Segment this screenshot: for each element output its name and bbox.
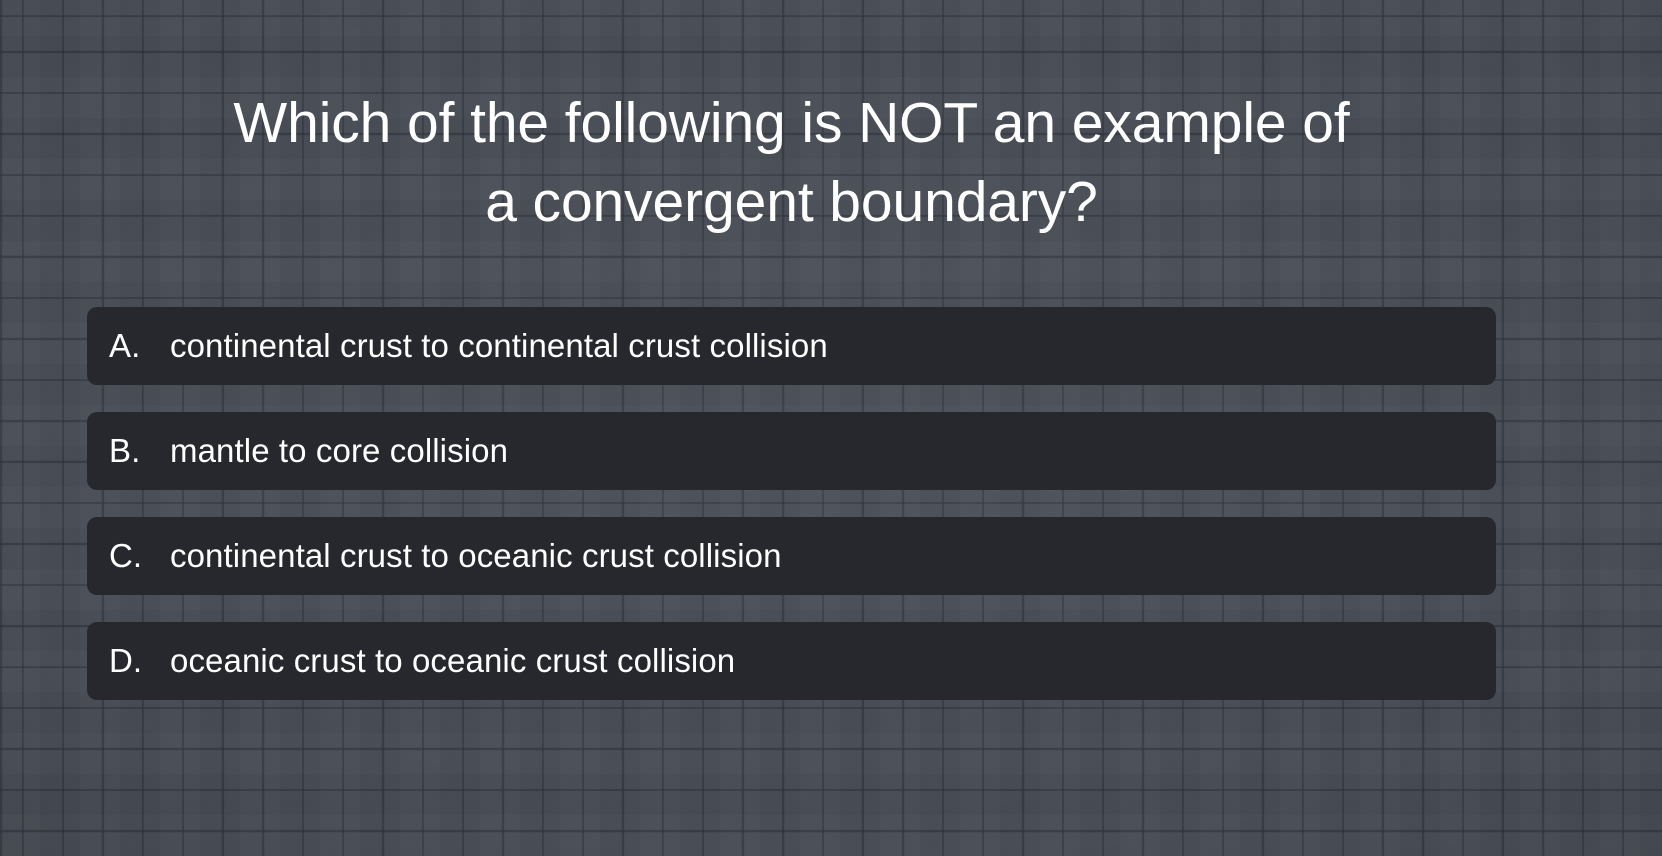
- answer-option-b[interactable]: B. mantle to core collision: [87, 412, 1496, 490]
- answer-option-b-letter: B.: [109, 432, 155, 470]
- answer-option-c[interactable]: C. continental crust to oceanic crust co…: [87, 517, 1496, 595]
- slide-content: Which of the following is NOT an example…: [0, 0, 1662, 856]
- answer-option-c-letter: C.: [109, 537, 155, 575]
- answer-options-list: A. continental crust to continental crus…: [87, 307, 1496, 700]
- answer-option-d-text: oceanic crust to oceanic crust collision: [155, 642, 1496, 680]
- answer-option-b-text: mantle to core collision: [155, 432, 1496, 470]
- answer-option-d-letter: D.: [109, 642, 155, 680]
- answer-option-d[interactable]: D. oceanic crust to oceanic crust collis…: [87, 622, 1496, 700]
- answer-option-a-letter: A.: [109, 327, 155, 365]
- question-title: Which of the following is NOT an example…: [87, 84, 1496, 241]
- answer-option-c-text: continental crust to oceanic crust colli…: [155, 537, 1496, 575]
- answer-option-a-text: continental crust to continental crust c…: [155, 327, 1496, 365]
- answer-option-a[interactable]: A. continental crust to continental crus…: [87, 307, 1496, 385]
